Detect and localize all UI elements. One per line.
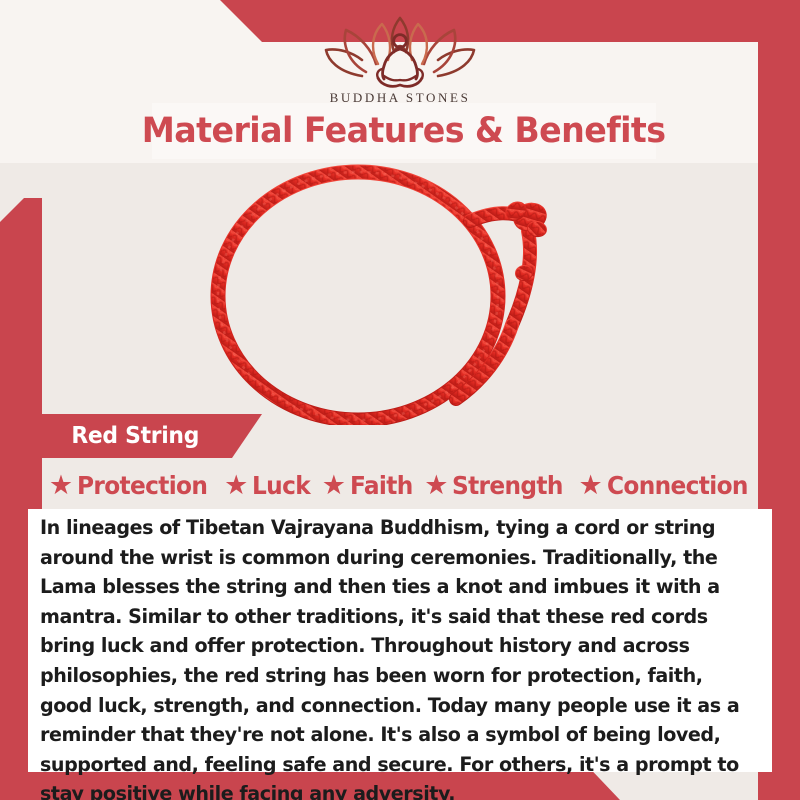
benefit-item-faith: ★ Faith bbox=[315, 471, 418, 500]
star-icon: ★ bbox=[224, 472, 248, 499]
benefit-item-luck: ★ Luck bbox=[217, 471, 315, 500]
star-icon: ★ bbox=[579, 472, 603, 499]
star-icon: ★ bbox=[49, 472, 73, 499]
product-image bbox=[42, 163, 758, 425]
lotus-meditation-figure-icon bbox=[322, 14, 478, 88]
red-braided-bracelet-illustration bbox=[42, 163, 758, 425]
benefit-item-protection: ★ Protection bbox=[42, 471, 217, 500]
product-label: Red String bbox=[71, 423, 199, 449]
description-panel: In lineages of Tibetan Vajrayana Buddhis… bbox=[28, 509, 772, 772]
description-text: In lineages of Tibetan Vajrayana Buddhis… bbox=[40, 513, 747, 800]
benefit-label: Protection bbox=[77, 471, 207, 500]
benefit-item-strength: ★ Strength bbox=[417, 471, 571, 500]
benefit-label: Luck bbox=[252, 471, 310, 500]
benefit-label: Connection bbox=[607, 471, 748, 500]
page-title: Material Features & Benefits bbox=[142, 111, 666, 151]
benefits-row: ★ Protection ★ Luck ★ Faith ★ Strength ★… bbox=[42, 466, 758, 504]
star-icon: ★ bbox=[322, 472, 346, 499]
benefit-item-connection: ★ Connection bbox=[572, 471, 759, 500]
star-icon: ★ bbox=[424, 472, 448, 499]
brand-logo: BUDDHA STONES bbox=[0, 14, 800, 106]
title-banner: Material Features & Benefits bbox=[152, 103, 656, 159]
product-infographic-poster: BUDDHA STONES Material Features & Benefi… bbox=[0, 0, 800, 800]
product-label-ribbon: Red String bbox=[0, 414, 262, 458]
benefit-label: Strength bbox=[452, 471, 563, 500]
benefit-label: Faith bbox=[350, 471, 413, 500]
